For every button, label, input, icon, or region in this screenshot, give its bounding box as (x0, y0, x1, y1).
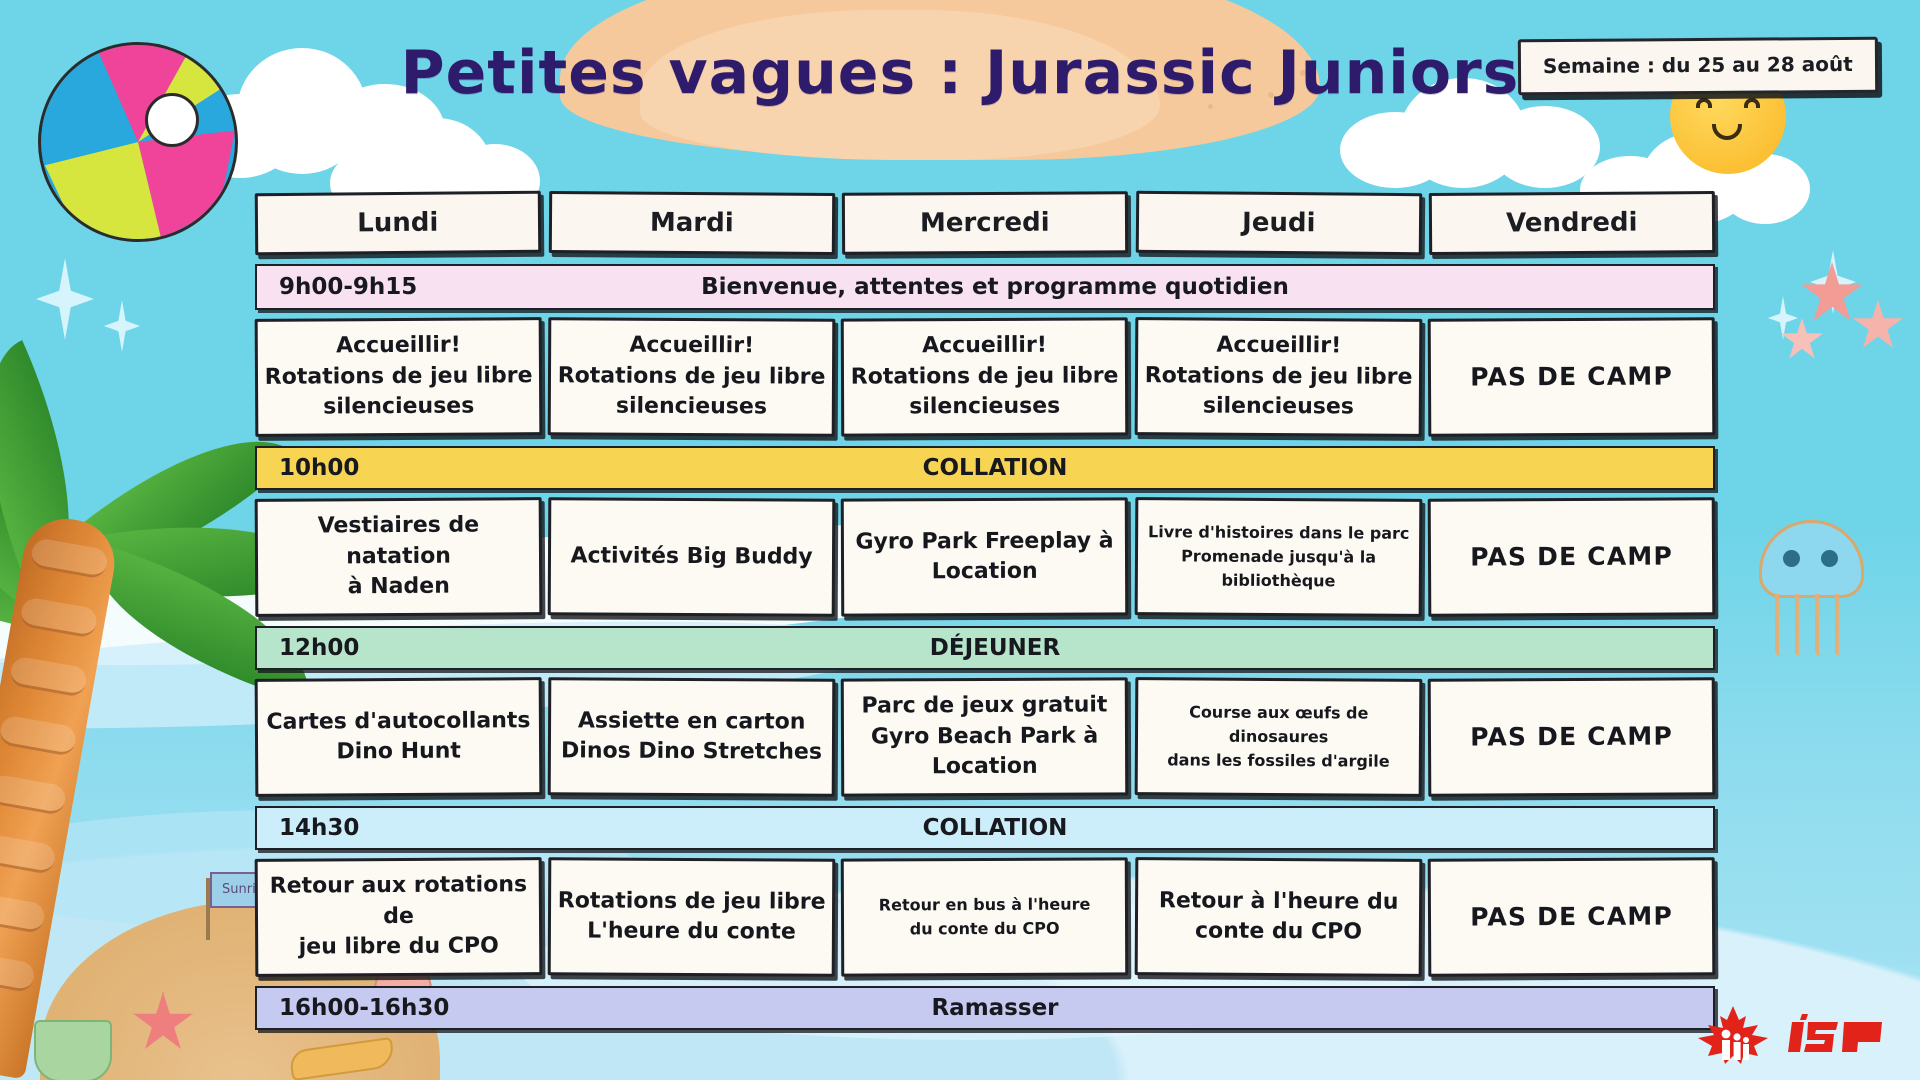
band-snack-afternoon: 14h30 COLLATION (255, 806, 1715, 850)
band-welcome-time: 9h00-9h15 (279, 274, 417, 300)
band-welcome: 9h00-9h15 Bienvenue, attentes et program… (255, 264, 1715, 310)
activity-cell-lundi-late-morning: Vestiaires de natation à Naden (255, 497, 543, 617)
day-header-lundi: Lundi (255, 191, 541, 255)
sparkle-icon (104, 300, 140, 352)
activity-row-morning: Accueillir! Rotations de jeu libre silen… (255, 318, 1715, 436)
band-pickup: 16h00-16h30 Ramasser (255, 986, 1715, 1030)
band-lunch-time: 12h00 (279, 635, 359, 661)
activity-cell-vendredi-morning: PAS DE CAMP (1427, 317, 1715, 437)
day-header-mercredi: Mercredi (842, 191, 1128, 254)
activity-row-afternoon: Cartes d'autocollants Dino Hunt Assiette… (255, 678, 1715, 796)
activity-cell-jeudi-afternoon: Course aux œufs de dinosaures dans les f… (1134, 677, 1422, 797)
activity-row-late-morning: Vestiaires de natation à Naden Activités… (255, 498, 1715, 616)
activity-cell-mardi-afternoon: Assiette en carton Dinos Dino Stretches (548, 677, 836, 797)
band-lunch: 12h00 DÉJEUNER (255, 626, 1715, 670)
sparkle-icon (1768, 296, 1798, 340)
activity-cell-mardi-morning: Accueillir! Rotations de jeu libre silen… (548, 317, 836, 437)
band-welcome-label: Bienvenue, attentes et programme quotidi… (257, 274, 1713, 300)
band-pickup-label: Ramasser (257, 995, 1713, 1021)
activity-cell-jeudi-late-morning: Livre d'histoires dans le parc Promenade… (1134, 497, 1422, 617)
canadian-forces-morale-welfare-logo-icon (1696, 1004, 1770, 1066)
starfish-icon (1800, 262, 1864, 326)
day-header-vendredi: Vendredi (1429, 191, 1715, 255)
starfish-icon (1852, 300, 1904, 352)
activity-cell-lundi-late-afternoon: Retour aux rotations de jeu libre du CPO (255, 857, 543, 977)
psp-logo-icon (1786, 1012, 1902, 1058)
activity-cell-mercredi-morning: Accueillir! Rotations de jeu libre silen… (841, 317, 1129, 436)
activity-cell-vendredi-late-morning: PAS DE CAMP (1427, 497, 1715, 617)
activity-cell-mercredi-late-afternoon: Retour en bus à l'heure du conte du CPO (841, 857, 1129, 976)
activity-cell-lundi-morning: Accueillir! Rotations de jeu libre silen… (255, 317, 543, 437)
band-snack-afternoon-label: COLLATION (257, 815, 1713, 841)
band-snack-afternoon-time: 14h30 (279, 815, 359, 841)
activity-row-late-afternoon: Retour aux rotations de jeu libre du CPO… (255, 858, 1715, 976)
activity-cell-mardi-late-morning: Activités Big Buddy (548, 497, 836, 617)
jellyfish-icon (1759, 520, 1864, 660)
sparkle-icon (1810, 250, 1856, 314)
activity-cell-vendredi-afternoon: PAS DE CAMP (1427, 677, 1715, 797)
poster-canvas: Sunrise Petites vagues : Jurassic Junior… (0, 0, 1920, 1080)
activity-cell-mercredi-afternoon: Parc de jeux gratuit Gyro Beach Park à L… (841, 677, 1129, 796)
day-header-row: Lundi Mardi Mercredi Jeudi Vendredi (255, 192, 1715, 254)
band-snack-morning-time: 10h00 (279, 455, 359, 481)
schedule-grid: Lundi Mardi Mercredi Jeudi Vendredi 9h00… (255, 192, 1715, 1038)
activity-cell-mardi-late-afternoon: Rotations de jeu libre L'heure du conte (548, 857, 836, 977)
band-snack-morning: 10h00 COLLATION (255, 446, 1715, 490)
band-lunch-label: DÉJEUNER (257, 635, 1713, 661)
day-header-jeudi: Jeudi (1136, 191, 1422, 255)
activity-cell-mercredi-late-morning: Gyro Park Freeplay à Location (841, 497, 1129, 616)
logo-group (1696, 1004, 1902, 1066)
week-badge: Semaine : du 25 au 28 août (1518, 37, 1878, 96)
day-header-mardi: Mardi (548, 191, 834, 255)
starfish-icon (1780, 318, 1824, 362)
activity-cell-vendredi-late-afternoon: PAS DE CAMP (1427, 857, 1715, 977)
activity-cell-lundi-afternoon: Cartes d'autocollants Dino Hunt (255, 677, 543, 797)
shovel-icon (288, 1037, 395, 1080)
sparkle-icon (36, 258, 94, 340)
activity-cell-jeudi-late-afternoon: Retour à l'heure du conte du CPO (1134, 857, 1422, 977)
starfish-icon (132, 992, 194, 1054)
band-snack-morning-label: COLLATION (257, 455, 1713, 481)
band-pickup-time: 16h00-16h30 (279, 995, 449, 1021)
bucket-icon (34, 1020, 112, 1080)
activity-cell-jeudi-morning: Accueillir! Rotations de jeu libre silen… (1134, 317, 1422, 437)
